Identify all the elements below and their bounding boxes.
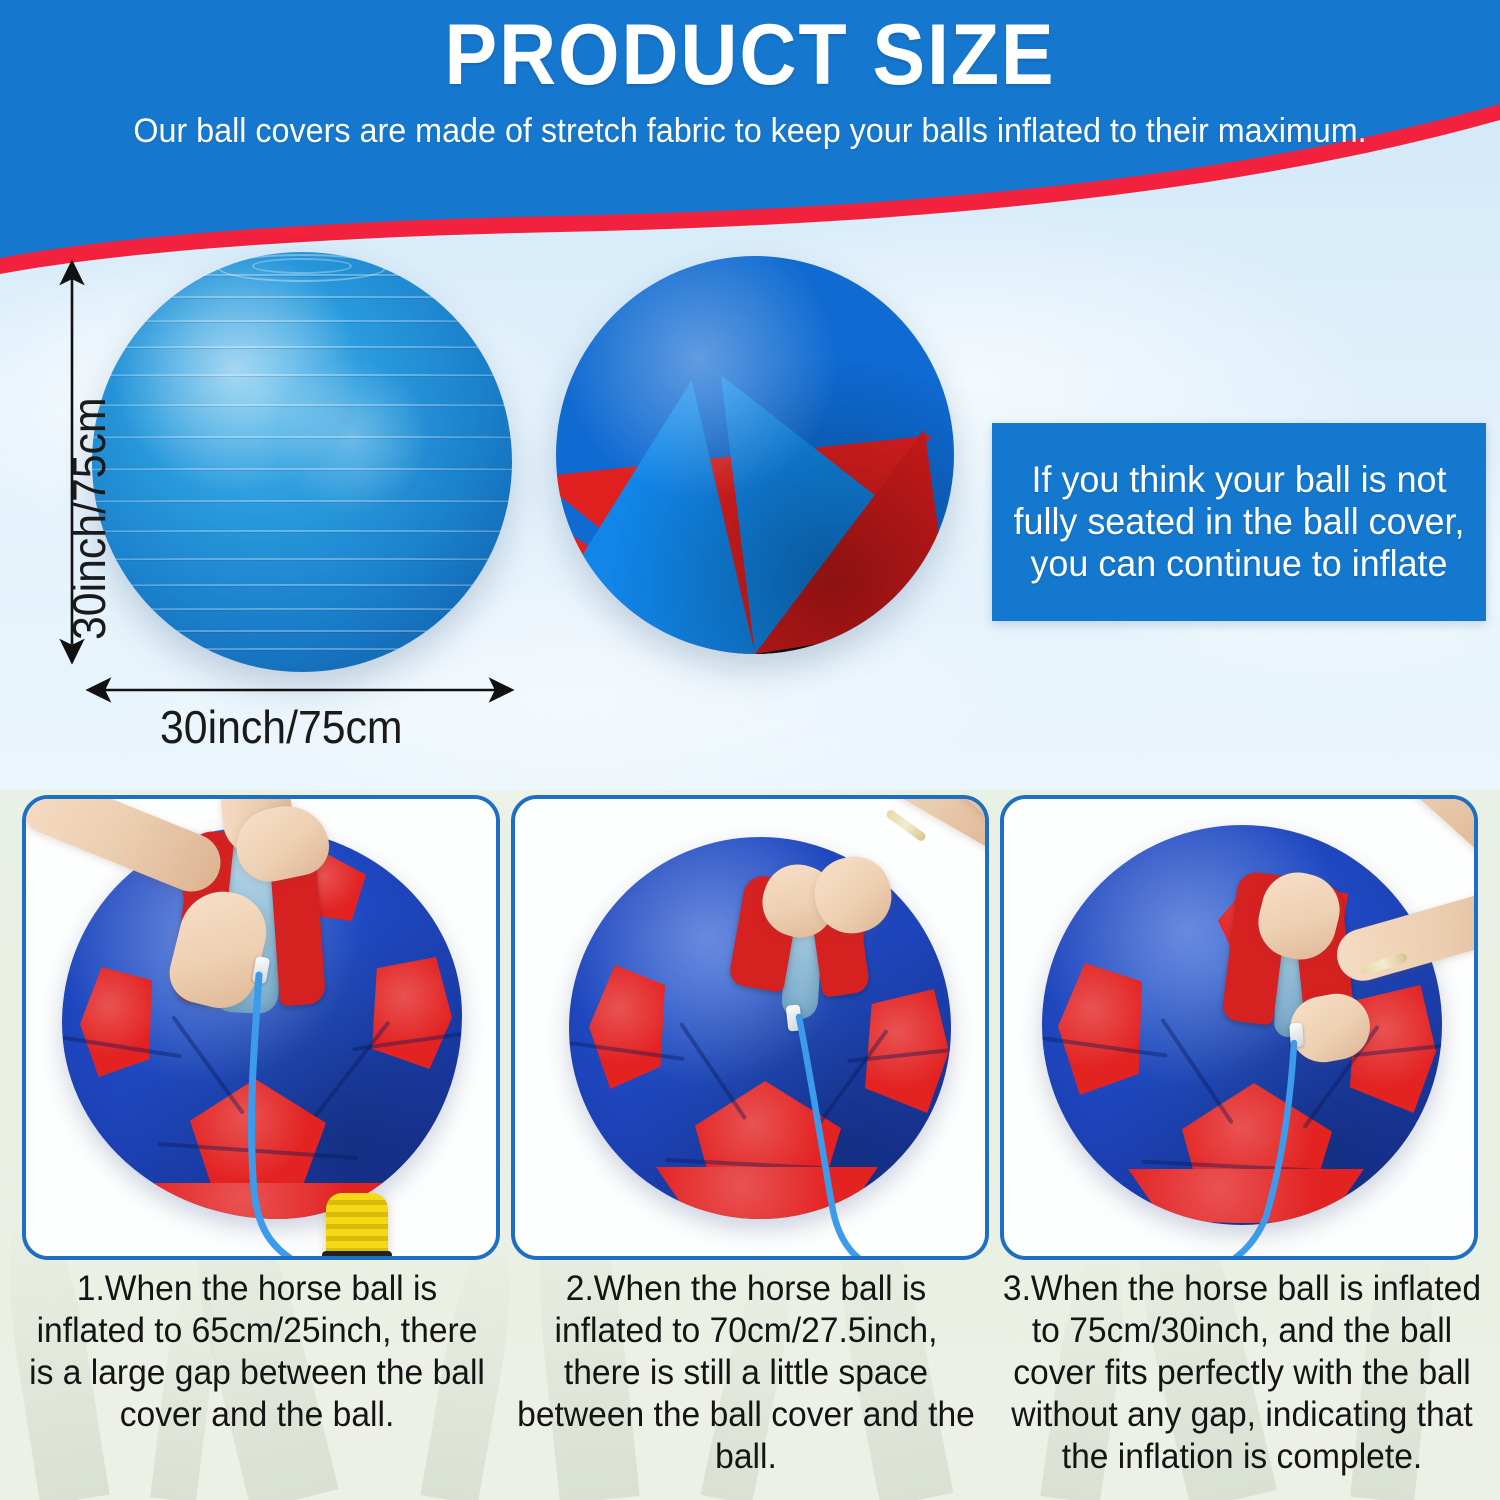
step-2-photo (515, 799, 985, 1256)
step-3-photo (1004, 799, 1474, 1256)
inflate-tip-text: If you think your ball is not fully seat… (999, 459, 1478, 586)
page-title: PRODUCT SIZE (60, 0, 1440, 100)
infographic-canvas: PRODUCT SIZE Our ball covers are made of… (0, 0, 1500, 1500)
step-captions: 1.When the horse ball is inflated to 65c… (0, 1268, 1500, 1500)
step-panel-3 (1000, 795, 1478, 1260)
pump-hose-1 (26, 799, 496, 1256)
pump-hose-3 (1004, 799, 1474, 1256)
step-2-caption: 2.When the horse ball is inflated to 70c… (513, 1268, 980, 1478)
beach-ball-image (556, 256, 954, 654)
horizontal-dimension-label: 30inch/75cm (160, 700, 403, 754)
step-panel-2 (511, 795, 989, 1260)
exercise-ball-image (92, 252, 512, 672)
step-panels (0, 795, 1500, 1260)
step-1-caption: 1.When the horse ball is inflated to 65c… (24, 1268, 491, 1436)
step-panel-1 (22, 795, 500, 1260)
step-3-caption: 3.When the horse ball is inflated to 75c… (1002, 1268, 1482, 1478)
step-1-photo (26, 799, 496, 1256)
inflate-tip-callout: If you think your ball is not fully seat… (992, 423, 1486, 621)
vertical-dimension-label: 30inch/75cm (62, 397, 116, 640)
pump-hose-2 (515, 799, 985, 1256)
header-subtitle: Our ball covers are made of stretch fabr… (76, 100, 1425, 154)
